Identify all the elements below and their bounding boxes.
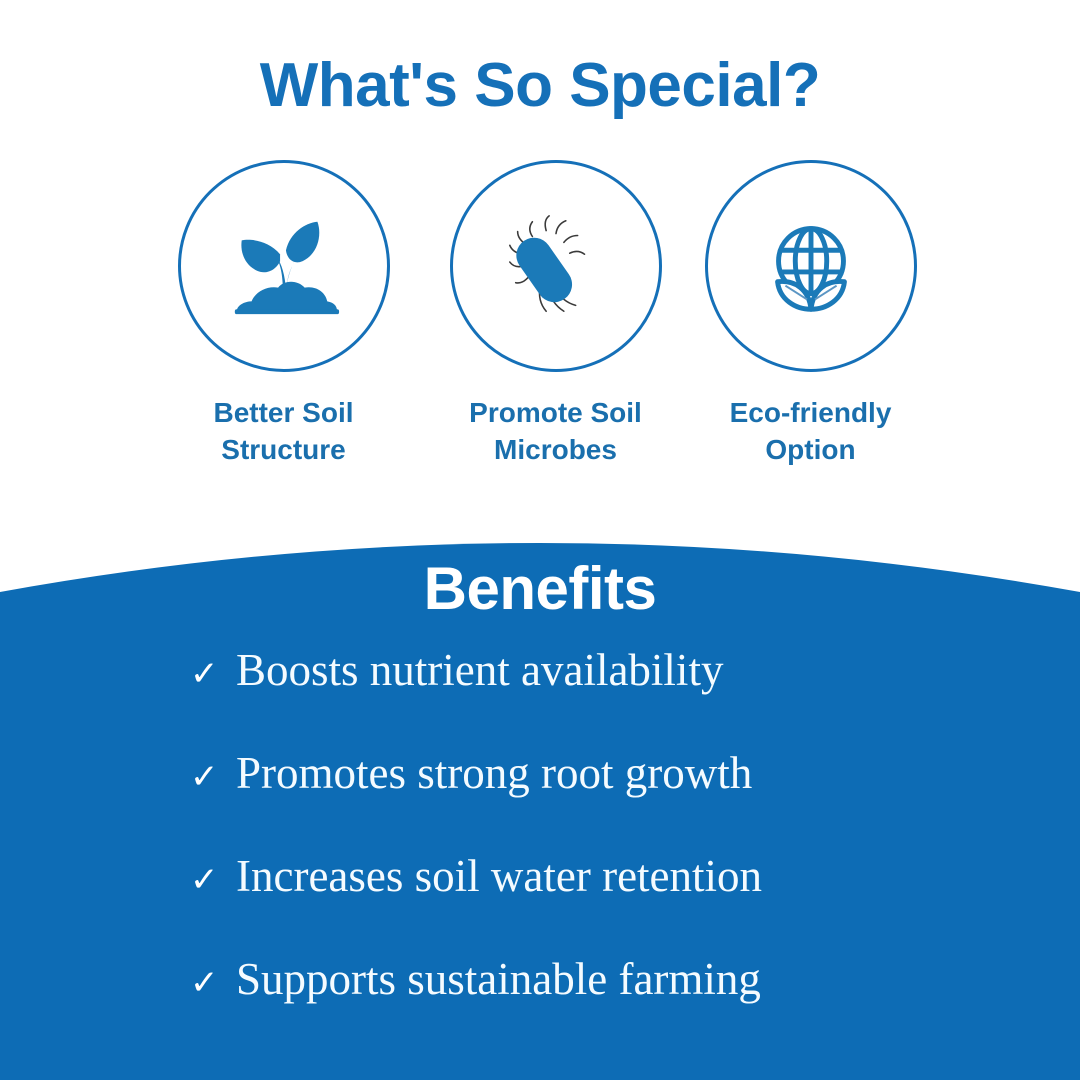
list-item: ✓ Increases soil water retention bbox=[0, 854, 1080, 957]
feature-icon-circle bbox=[450, 160, 662, 372]
poster-canvas: What's So Special? bbox=[0, 0, 1080, 1080]
check-icon: ✓ bbox=[190, 863, 236, 897]
seedling-soil-icon bbox=[225, 207, 343, 325]
feature-icon-circle bbox=[705, 160, 917, 372]
feature-label: Eco-friendly Option bbox=[730, 394, 892, 468]
benefit-text: Increases soil water retention bbox=[236, 854, 762, 899]
benefit-text: Boosts nutrient availability bbox=[236, 648, 723, 693]
feature-better-soil-structure[interactable]: Better Soil Structure bbox=[156, 160, 412, 468]
feature-promote-soil-microbes[interactable]: Promote Soil Microbes bbox=[428, 160, 684, 468]
page-title: What's So Special? bbox=[0, 52, 1080, 120]
feature-label: Promote Soil Microbes bbox=[469, 394, 642, 468]
feature-eco-friendly-option[interactable]: Eco-friendly Option bbox=[683, 160, 939, 468]
benefits-list: ✓ Boosts nutrient availability ✓ Promote… bbox=[0, 648, 1080, 1060]
benefit-text: Supports sustainable farming bbox=[236, 957, 761, 1002]
check-icon: ✓ bbox=[190, 657, 236, 691]
list-item: ✓ Promotes strong root growth bbox=[0, 751, 1080, 854]
benefits-heading: Benefits bbox=[0, 556, 1080, 622]
list-item: ✓ Supports sustainable farming bbox=[0, 957, 1080, 1060]
feature-icon-circle bbox=[178, 160, 390, 372]
bacteria-microbe-icon bbox=[497, 207, 615, 325]
feature-row: Better Soil Structure bbox=[0, 160, 1080, 468]
check-icon: ✓ bbox=[190, 966, 236, 1000]
benefit-text: Promotes strong root growth bbox=[236, 751, 752, 796]
globe-leaves-eco-icon bbox=[752, 207, 870, 325]
list-item: ✓ Boosts nutrient availability bbox=[0, 648, 1080, 751]
whats-so-special-section: What's So Special? bbox=[0, 0, 1080, 520]
feature-label: Better Soil Structure bbox=[213, 394, 353, 468]
check-icon: ✓ bbox=[190, 760, 236, 794]
